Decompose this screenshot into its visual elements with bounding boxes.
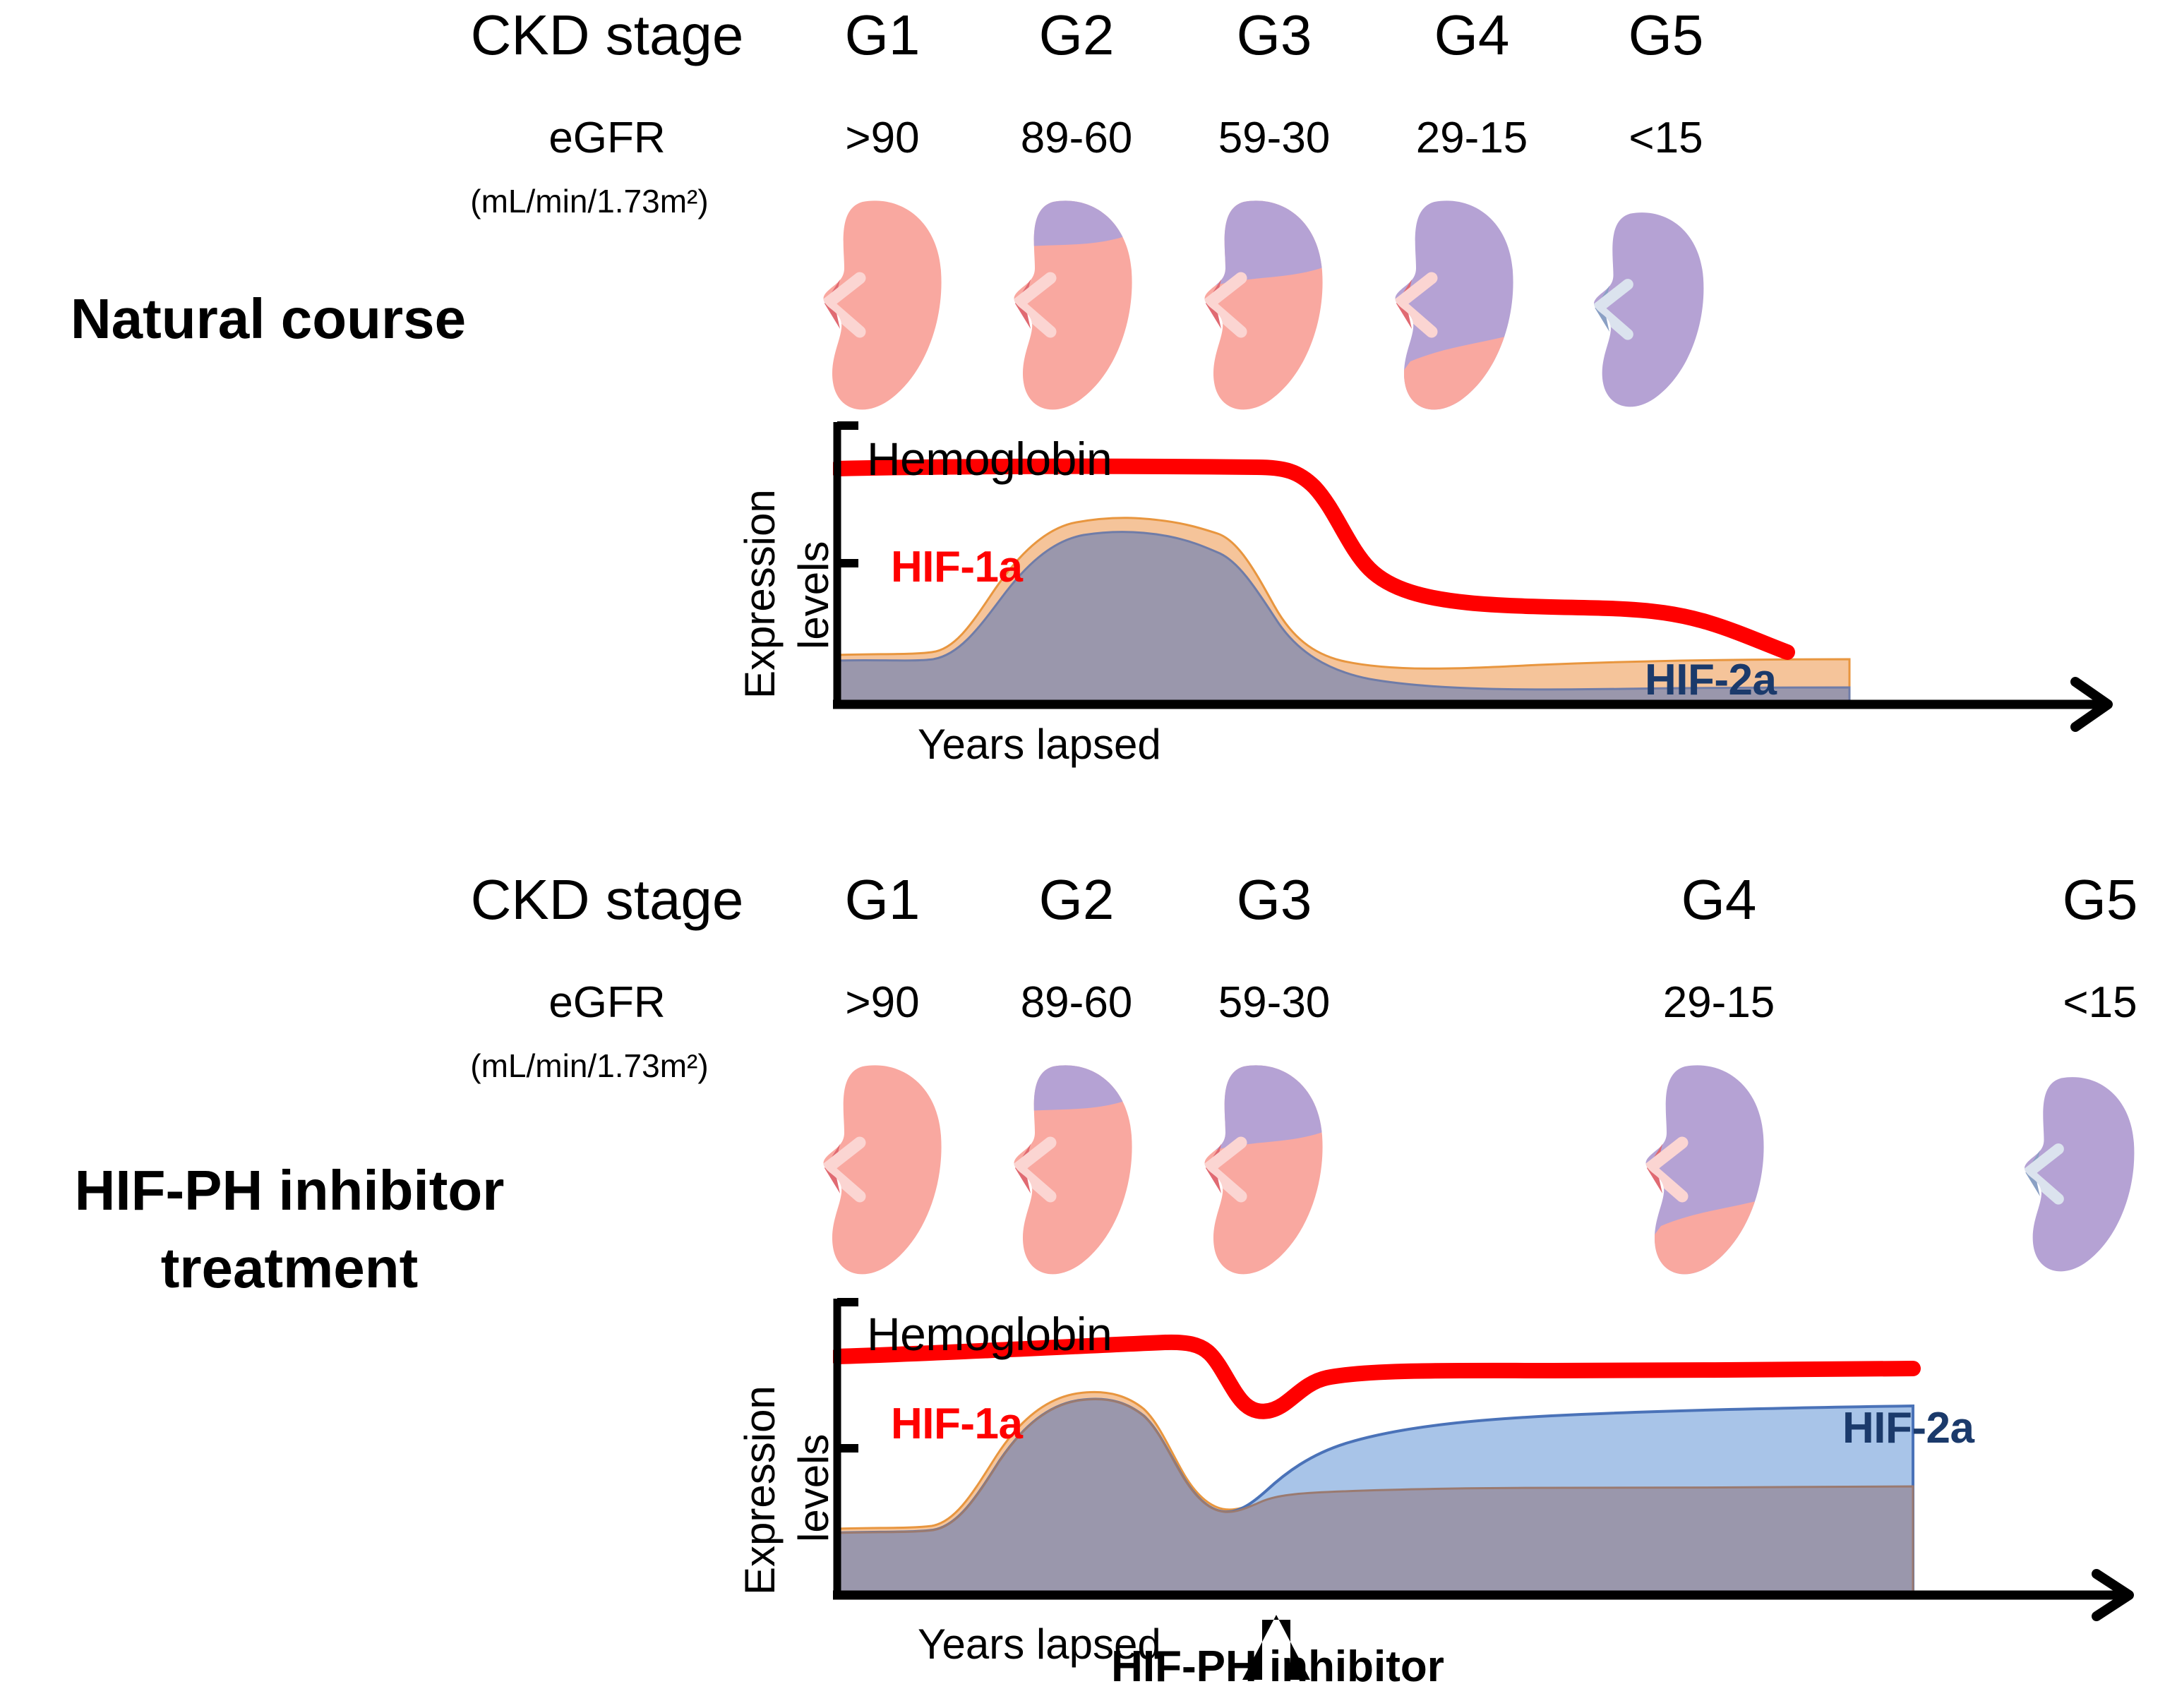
top-egfr-g1: >90	[812, 116, 953, 160]
bottom-stage-g1: G1	[812, 872, 953, 928]
top-egfr-units-label: (mL/min/1.73m²)	[402, 185, 776, 217]
kidney-g5	[1583, 203, 1728, 420]
kidney-b-g5	[2014, 1068, 2159, 1285]
bottom-stage-g5: G5	[2029, 872, 2171, 928]
top-y-axis-title-line1: Expression	[736, 489, 784, 699]
top-egfr-g5: <15	[1595, 116, 1737, 160]
top-y-axis-title-line2: levels	[789, 541, 838, 649]
bottom-hemoglobin-label: Hemoglobin	[867, 1307, 1112, 1361]
top-egfr-label: eGFR	[438, 116, 776, 160]
figure-canvas: CKD stage eGFR (mL/min/1.73m²) G1 G2 G3 …	[0, 0, 2177, 1708]
bottom-egfr-g1: >90	[812, 981, 953, 1025]
top-stage-g2: G2	[1006, 7, 1147, 64]
kidney-g4	[1384, 191, 1539, 431]
top-stage-g1: G1	[812, 7, 953, 64]
top-hif2a-label: HIF-2a	[1645, 655, 1776, 705]
hif-ph-inhibitor-annotation: HIF-PH inhibitor	[1059, 1642, 1497, 1692]
bottom-egfr-g5: <15	[2029, 981, 2171, 1025]
bottom-y-axis-title-line1: Expression	[736, 1385, 784, 1595]
kidney-g2	[1002, 191, 1158, 423]
top-stage-g5: G5	[1595, 7, 1737, 64]
top-stage-g3: G3	[1204, 7, 1345, 64]
bottom-stage-g3: G3	[1204, 872, 1345, 928]
top-x-axis-title: Years lapsed	[918, 720, 1161, 769]
top-hif1a-label: HIF-1a	[891, 542, 1022, 592]
top-stage-g4: G4	[1401, 7, 1542, 64]
top-hemoglobin-label: Hemoglobin	[867, 432, 1112, 486]
top-egfr-g3: 59-30	[1204, 116, 1345, 160]
kidney-b-g1	[812, 1055, 967, 1288]
top-egfr-g2: 89-60	[1006, 116, 1147, 160]
bottom-egfr-units-label: (mL/min/1.73m²)	[402, 1050, 776, 1082]
bottom-stage-g4: G4	[1648, 872, 1789, 928]
panel-title-hif-ph-inhibitor-line2: treatment	[7, 1235, 572, 1301]
kidney-g1	[812, 191, 967, 423]
bottom-egfr-g3: 59-30	[1204, 981, 1345, 1025]
bottom-egfr-g2: 89-60	[1006, 981, 1147, 1025]
panel-title-natural-course: Natural course	[7, 286, 529, 352]
bottom-hif2a-label: HIF-2a	[1842, 1403, 1974, 1453]
kidney-b-g2	[1002, 1055, 1158, 1288]
kidney-g3	[1193, 191, 1348, 423]
bottom-egfr-label: eGFR	[438, 981, 776, 1025]
top-ckd-stage-label: CKD stage	[438, 7, 776, 64]
bottom-egfr-g4: 29-15	[1648, 981, 1789, 1025]
panel-title-hif-ph-inhibitor-line1: HIF-PH inhibitor	[7, 1157, 572, 1224]
bottom-ckd-stage-label: CKD stage	[438, 872, 776, 928]
bottom-y-axis-title-line2: levels	[789, 1434, 838, 1542]
top-egfr-g4: 29-15	[1401, 116, 1542, 160]
bottom-stage-g2: G2	[1006, 872, 1147, 928]
kidney-b-g4	[1634, 1055, 1789, 1295]
bottom-hif1a-label: HIF-1a	[891, 1399, 1022, 1449]
bottom-kidney-row	[805, 1059, 2174, 1277]
top-kidney-row	[805, 194, 1793, 413]
kidney-b-g3	[1193, 1055, 1348, 1288]
